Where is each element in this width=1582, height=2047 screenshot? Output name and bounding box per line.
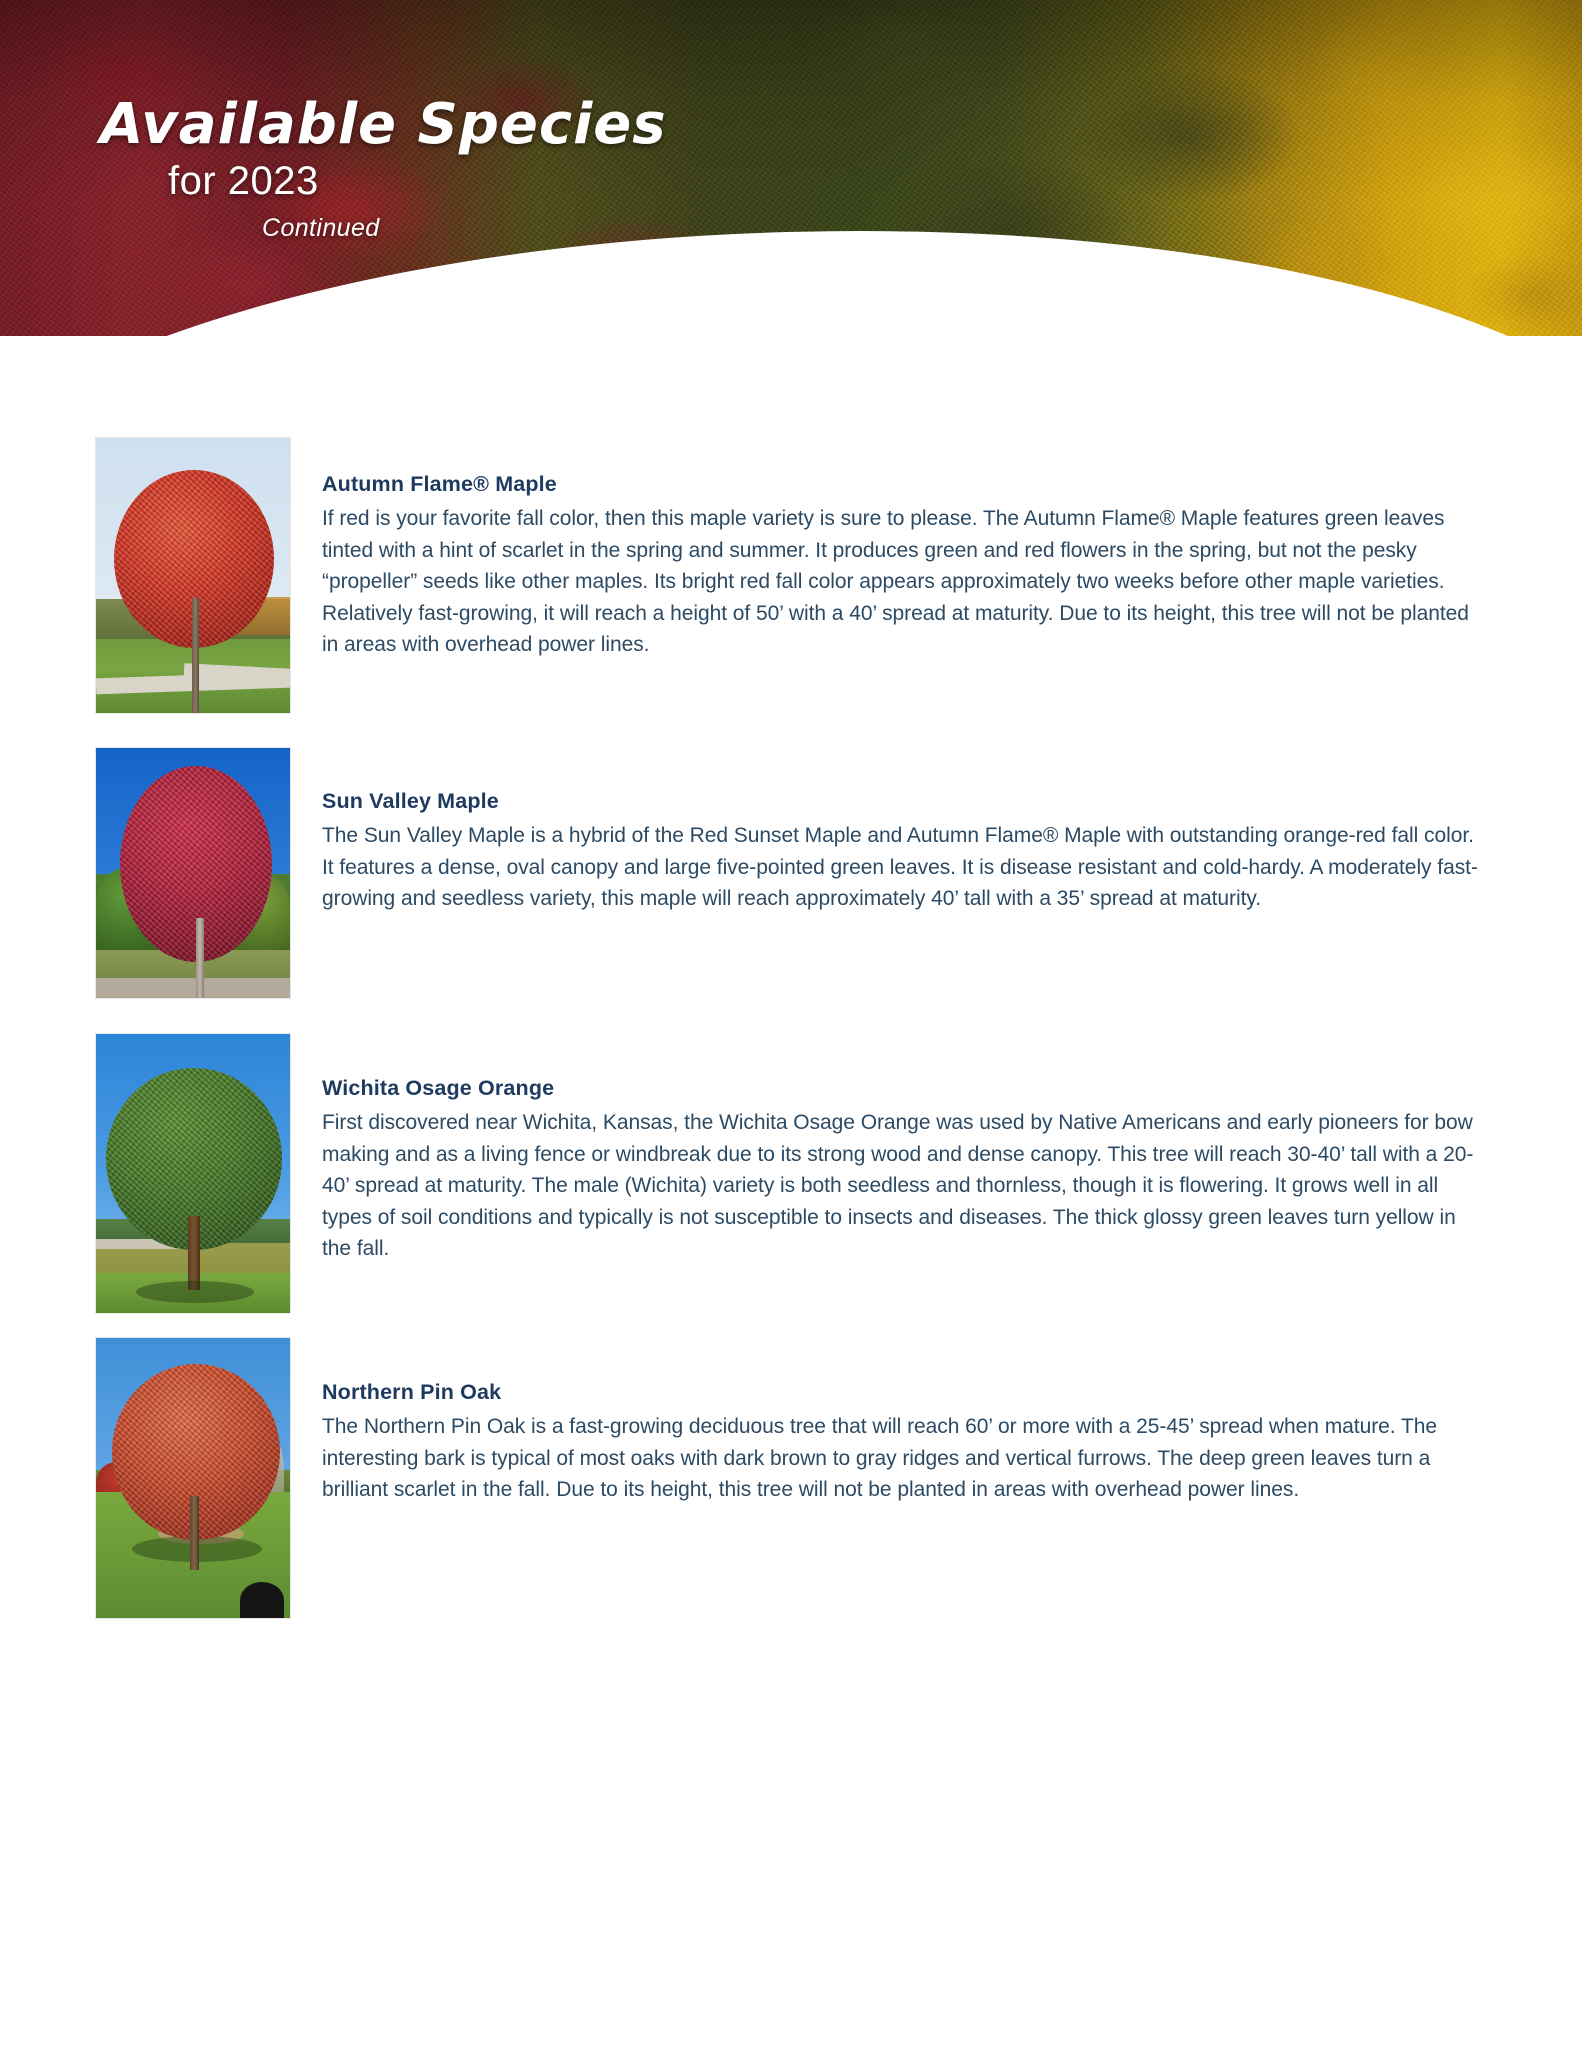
species-text-northern-pin-oak: Northern Pin Oak The Northern Pin Oak is… [322, 1380, 1484, 1506]
species-photo-sun-valley-maple [95, 747, 291, 999]
footer-wave-decoration [0, 1527, 1582, 2047]
species-text-autumn-flame-maple: Autumn Flame® Maple If red is your favor… [322, 472, 1484, 661]
species-photo-wichita-osage-orange [95, 1033, 291, 1314]
species-description: The Sun Valley Maple is a hybrid of the … [322, 820, 1484, 915]
species-description: First discovered near Wichita, Kansas, t… [322, 1107, 1484, 1265]
species-description: If red is your favorite fall color, then… [322, 503, 1484, 661]
header-banner: Available Species for 2023 Continued [0, 0, 1582, 336]
species-photo-autumn-flame-maple [95, 437, 291, 714]
species-description: The Northern Pin Oak is a fast-growing d… [322, 1411, 1484, 1506]
page-title: Available Species [100, 96, 667, 153]
species-heading: Sun Valley Maple [322, 789, 1484, 814]
footer-wave-white [0, 1527, 1582, 2047]
species-heading: Autumn Flame® Maple [322, 472, 1484, 497]
species-heading: Wichita Osage Orange [322, 1076, 1484, 1101]
header-title-block: Available Species for 2023 Continued [100, 96, 667, 243]
page-continued-label: Continued [262, 214, 667, 243]
species-heading: Northern Pin Oak [322, 1380, 1484, 1405]
page-subtitle-year: for 2023 [168, 159, 667, 204]
species-text-sun-valley-maple: Sun Valley Maple The Sun Valley Maple is… [322, 789, 1484, 915]
species-text-wichita-osage-orange: Wichita Osage Orange First discovered ne… [322, 1076, 1484, 1265]
